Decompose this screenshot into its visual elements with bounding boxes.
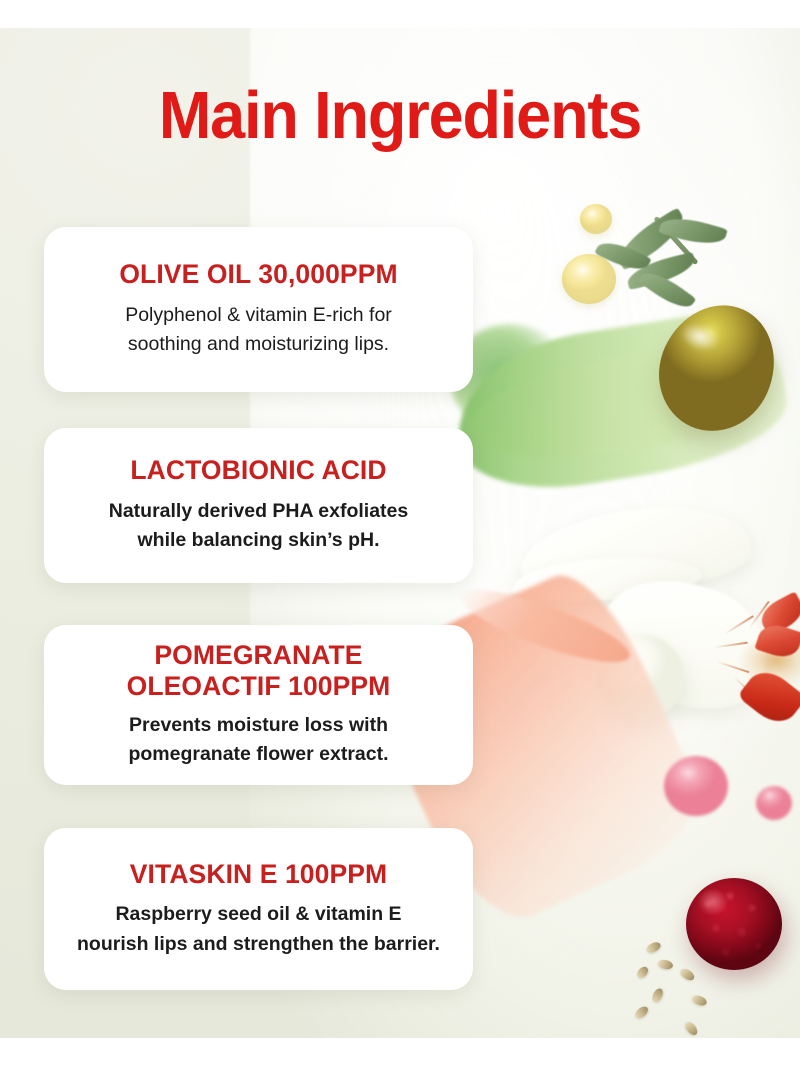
top-white-band (0, 0, 800, 28)
ingredient-card-pomegranate-oleoactif: POMEGRANATE OLEOACTIF 100PPM Prevents mo… (44, 625, 473, 785)
ingredient-card-description: Prevents moisture loss with pomegranate … (128, 711, 388, 770)
ingredient-card-lactobionic-acid: LACTOBIONIC ACID Naturally derived PHA e… (44, 428, 473, 583)
ingredient-card-heading: VITASKIN E 100PPM (130, 859, 387, 890)
pink-droplet-icon (756, 786, 792, 820)
raspberry-texture (686, 878, 782, 970)
ingredient-card-olive-oil: OLIVE OIL 30,000PPM Polyphenol & vitamin… (44, 227, 473, 392)
ingredient-card-heading: POMEGRANATE OLEOACTIF 100PPM (127, 640, 391, 703)
pink-droplet-icon (664, 756, 728, 816)
bottom-white-band (0, 1038, 800, 1091)
ingredients-poster: Main Ingredients OLIVE OIL 30,000PPM Pol… (0, 0, 800, 1091)
oil-droplet-icon (562, 254, 616, 304)
ingredient-card-vitaskin-e: VITASKIN E 100PPM Raspberry seed oil & v… (44, 828, 473, 990)
ingredient-card-description: Raspberry seed oil & vitamin E nourish l… (77, 900, 440, 959)
ingredient-card-heading: LACTOBIONIC ACID (130, 455, 386, 486)
oil-droplet-icon (580, 204, 612, 234)
ingredient-card-description: Polyphenol & vitamin E-rich for soothing… (125, 301, 392, 360)
ingredient-card-heading: OLIVE OIL 30,000PPM (119, 259, 397, 290)
ingredient-card-description: Naturally derived PHA exfoliates while b… (109, 497, 408, 556)
page-title: Main Ingredients (24, 82, 776, 150)
